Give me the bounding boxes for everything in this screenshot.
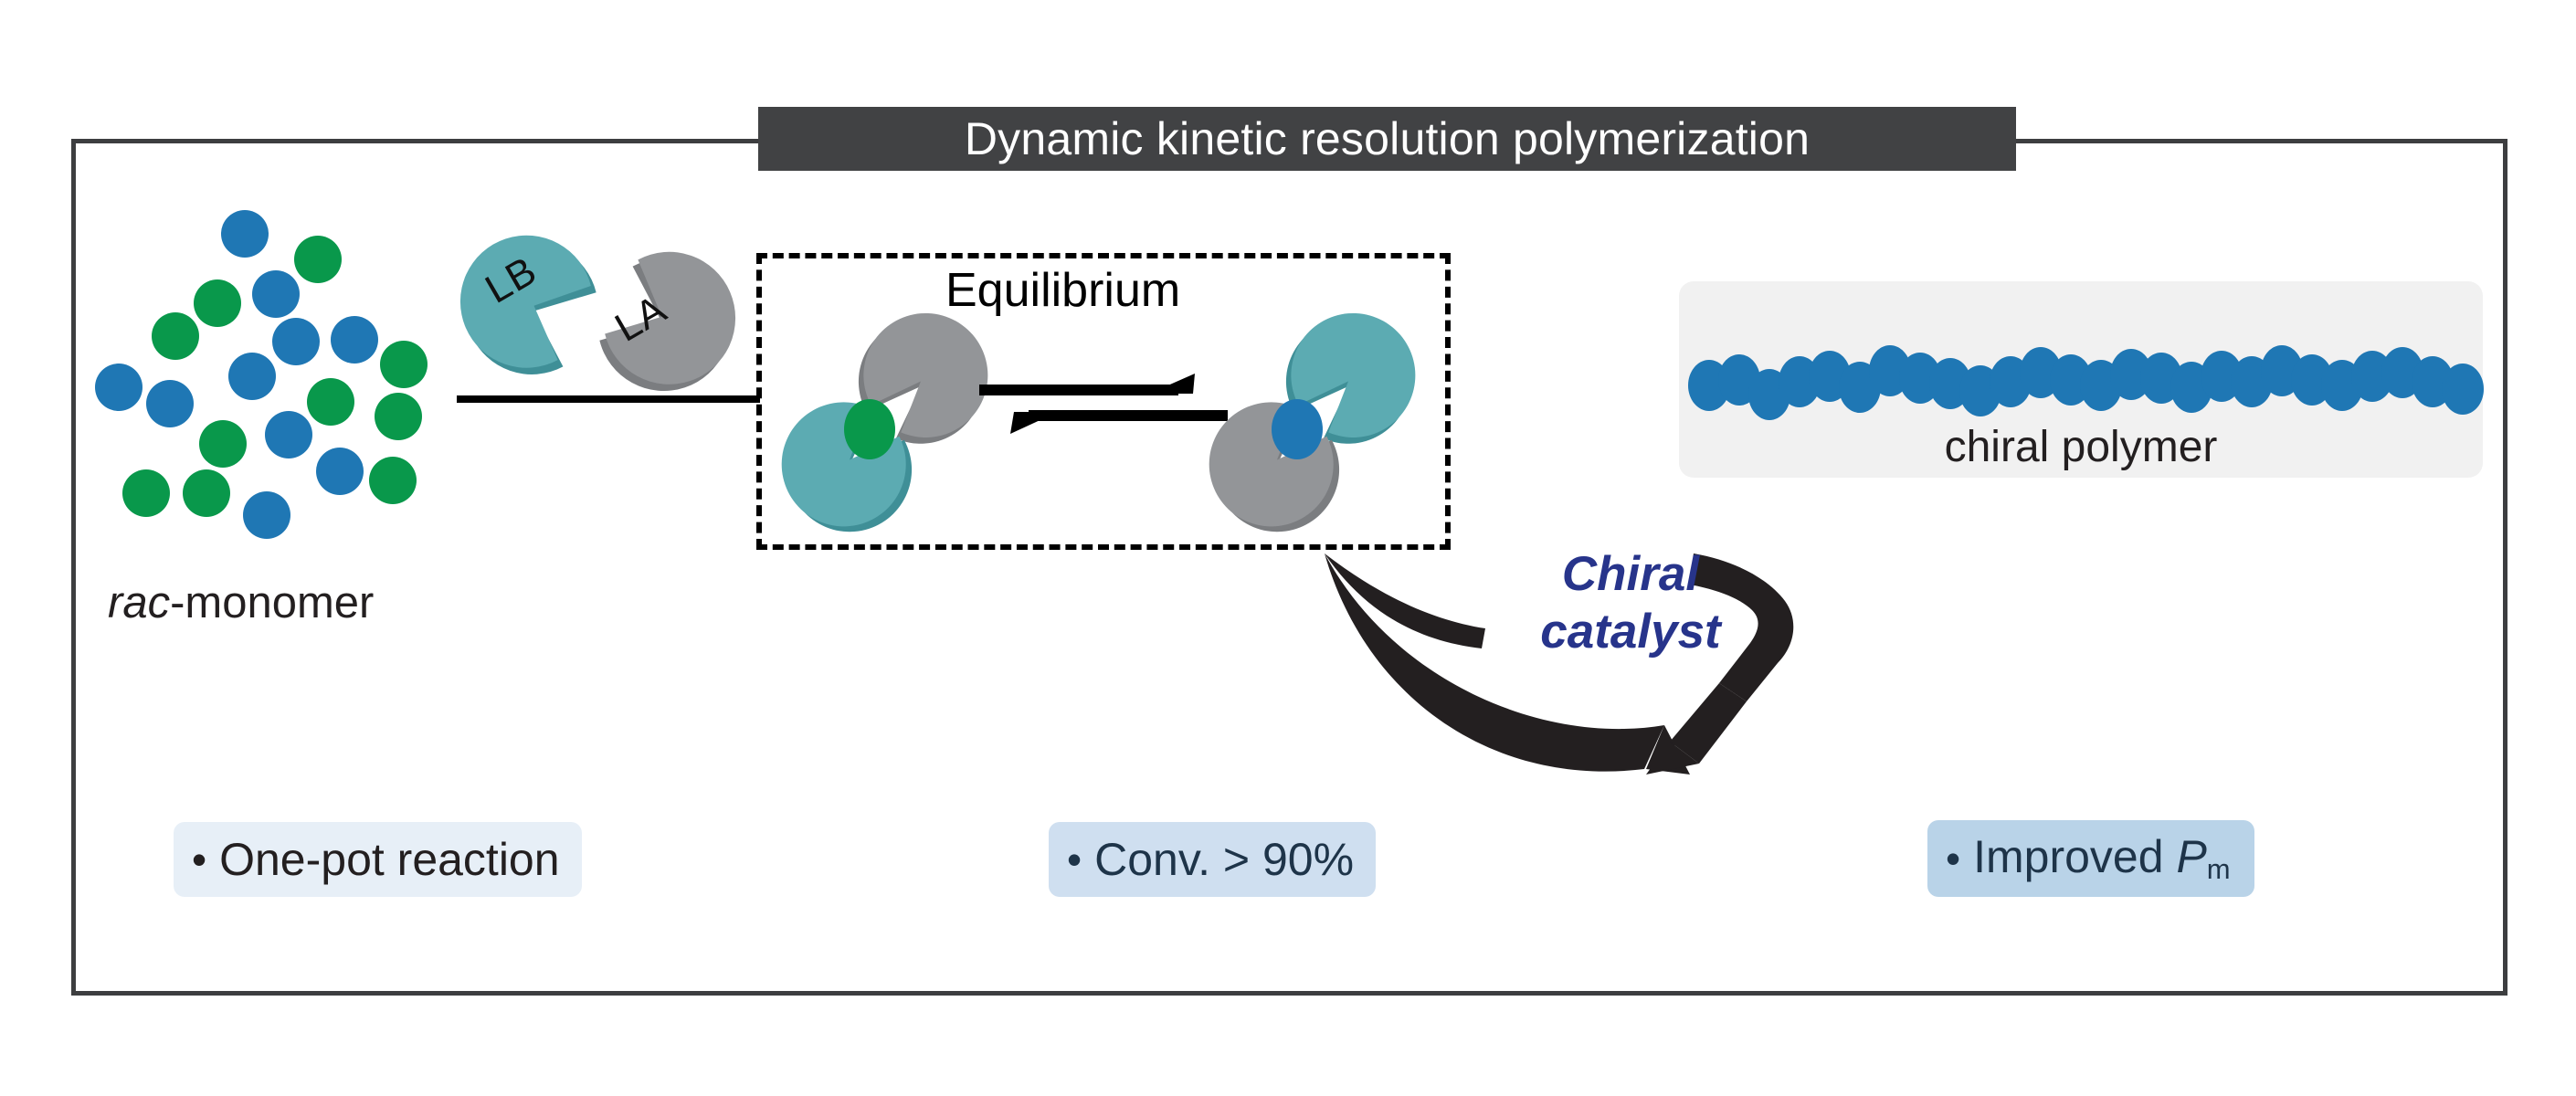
monomer-dot <box>146 380 194 427</box>
equilibrium-arrows <box>976 352 1231 452</box>
bullet-icon: • <box>1946 838 1960 880</box>
page-title: Dynamic kinetic resolution polymerizatio… <box>965 116 1810 162</box>
left-monomer-complex <box>787 324 998 534</box>
monomer-dot <box>199 420 247 468</box>
monomer-dot <box>228 353 276 400</box>
monomer-dot <box>316 448 364 495</box>
chiral-catalyst-text: Chiral catalyst <box>1480 546 1781 660</box>
monomer-dot <box>380 341 428 388</box>
monomer-dot <box>95 364 143 411</box>
bullet-icon: • <box>1067 838 1082 880</box>
chiral-polymer-chain <box>1688 338 2483 420</box>
monomer-suffix: -monomer <box>170 578 374 627</box>
monomer-dot <box>294 236 342 283</box>
figure-canvas: Dynamic kinetic resolution polymerizatio… <box>0 0 2576 1096</box>
bullet-improved-pm-label: Improved Pm <box>1973 834 2231 883</box>
improved-prefix: Improved <box>1973 831 2176 882</box>
monomer-dot <box>265 411 312 458</box>
bullet-conversion: • Conv. > 90% <box>1049 822 1376 897</box>
monomer-dot <box>272 318 320 365</box>
right-complex-blue-monomer <box>1272 399 1323 459</box>
chiral-polymer-label: chiral polymer <box>1679 422 2483 472</box>
rac-monomer-label: rac-monomer <box>108 577 374 628</box>
monomer-dot <box>183 469 230 517</box>
monomer-dot <box>221 210 269 258</box>
right-monomer-complex <box>1215 324 1425 534</box>
monomer-dot <box>252 270 300 318</box>
rac-monomer-cluster <box>82 199 502 564</box>
monomer-dot <box>369 457 417 504</box>
monomer-dot <box>375 393 422 440</box>
bullet-improved-pm: • Improved Pm <box>1927 820 2254 897</box>
monomer-dot <box>152 312 199 360</box>
monomer-dot <box>194 279 241 327</box>
bullet-conversion-label: Conv. > 90% <box>1094 837 1354 882</box>
pm-subscript: m <box>2207 853 2231 885</box>
bullet-icon: • <box>192 838 206 880</box>
equilibrium-title: Equilibrium <box>945 263 1180 318</box>
lewis-pair-group: LB LA <box>468 239 733 399</box>
monomer-dot <box>122 469 170 517</box>
lewis-base-icon <box>468 245 600 377</box>
pm-symbol: P <box>2176 831 2206 882</box>
catalyst-line-2: catalyst <box>1480 604 1781 661</box>
bullet-one-pot-label: One-pot reaction <box>219 837 559 882</box>
title-banner: Dynamic kinetic resolution polymerizatio… <box>758 107 2016 171</box>
polymer-bead <box>2442 364 2484 415</box>
monomer-dot <box>331 316 378 364</box>
bullet-one-pot-reaction: • One-pot reaction <box>174 822 582 897</box>
rac-italic: rac <box>108 578 170 627</box>
monomer-dot <box>307 378 354 426</box>
monomer-dot <box>243 491 290 539</box>
left-complex-green-monomer <box>844 399 895 459</box>
catalyst-line-1: Chiral <box>1480 546 1781 604</box>
